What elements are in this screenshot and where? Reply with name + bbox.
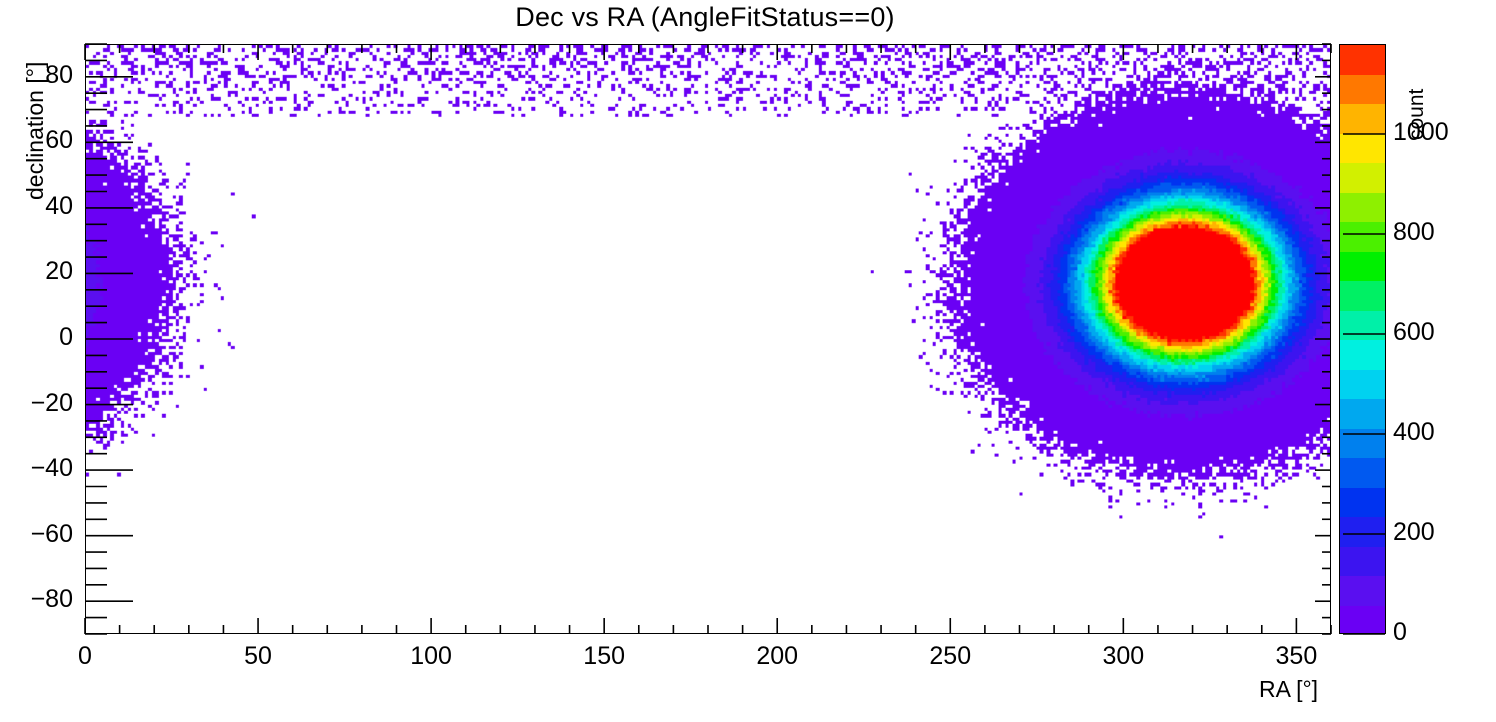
x-tick-label: 0: [35, 642, 135, 671]
chart-title: Dec vs RA (AngleFitStatus==0): [0, 2, 1410, 33]
colorbar-tick-label: 200: [1393, 518, 1435, 547]
colorbar-band: [1340, 429, 1385, 459]
colorbar-band: [1340, 340, 1385, 370]
colorbar-band: [1340, 576, 1385, 606]
colorbar-band: [1340, 311, 1385, 341]
colorbar-tick-label: 400: [1393, 418, 1435, 447]
colorbar-band: [1340, 370, 1385, 400]
colorbar-band: [1340, 222, 1385, 252]
colorbar-band: [1340, 606, 1385, 635]
y-tick-label: −80: [0, 585, 73, 614]
y-axis-title: declination [°]: [22, 62, 49, 200]
y-tick-label: −60: [0, 520, 73, 549]
colorbar-band: [1340, 458, 1385, 488]
colorbar-band: [1340, 252, 1385, 282]
x-tick-label: 200: [727, 642, 827, 671]
colorbar-band: [1340, 488, 1385, 518]
y-tick-label: −20: [0, 389, 73, 418]
colorbar-band: [1340, 163, 1385, 193]
colorbar: [1339, 44, 1386, 634]
y-tick-label: 0: [0, 323, 73, 352]
plot-frame: [85, 44, 1331, 634]
colorbar-band: [1340, 75, 1385, 105]
colorbar-band: [1340, 547, 1385, 577]
colorbar-band: [1340, 45, 1385, 75]
x-tick-label: 250: [900, 642, 1000, 671]
x-tick-label: 350: [1246, 642, 1346, 671]
colorbar-band: [1340, 281, 1385, 311]
colorbar-tick-label: 600: [1393, 318, 1435, 347]
x-tick-label: 50: [208, 642, 308, 671]
heatmap-canvas: [86, 45, 1330, 633]
root-canvas: Dec vs RA (AngleFitStatus==0) 0501001502…: [0, 0, 1496, 722]
colorbar-band: [1340, 193, 1385, 223]
colorbar-band: [1340, 517, 1385, 547]
colorbar-tick-label: 0: [1393, 618, 1407, 647]
colorbar-title: count: [1405, 89, 1429, 140]
colorbar-band: [1340, 399, 1385, 429]
colorbar-tick-label: 800: [1393, 218, 1435, 247]
colorbar-band: [1340, 104, 1385, 134]
x-axis-title: RA [°]: [1259, 676, 1318, 703]
y-tick-label: −40: [0, 454, 73, 483]
x-tick-label: 150: [554, 642, 654, 671]
x-tick-label: 100: [381, 642, 481, 671]
colorbar-band: [1340, 134, 1385, 164]
x-tick-label: 300: [1073, 642, 1173, 671]
y-tick-label: 20: [0, 257, 73, 286]
